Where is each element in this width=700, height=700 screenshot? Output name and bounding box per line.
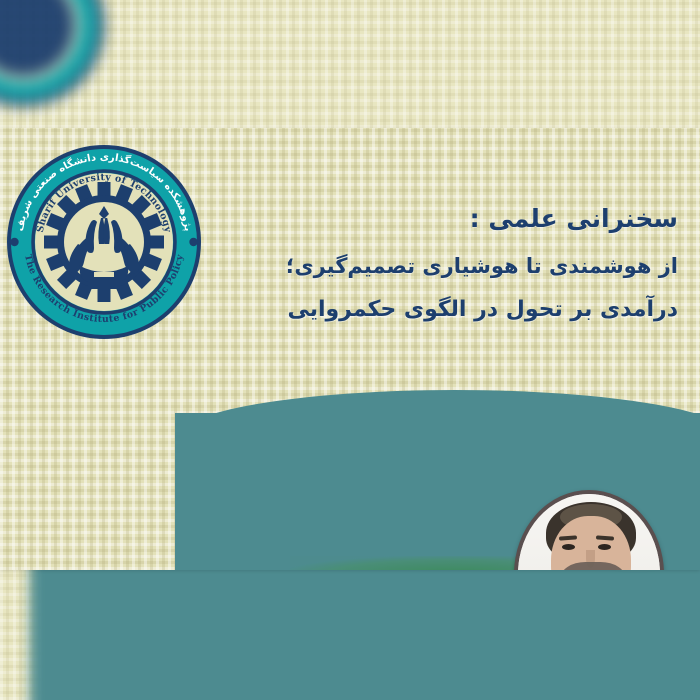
background-blurred-logo-icon xyxy=(0,0,108,110)
sharif-university-logo: پژوهشکده سیاست‌گذاری دانشگاه صنعتی شریف … xyxy=(4,142,204,342)
foreground-poster-layer: سخنرانی علمی : از هوشمندی تا هوشیاری تصم… xyxy=(0,128,700,570)
poster-canvas: دکتر مهدی فاتح‌راد سخنرانی علمی : از هوش… xyxy=(0,0,700,700)
speaker-portrait xyxy=(514,490,664,570)
speaker-name: دکتر مهدی فاتح‌راد xyxy=(0,568,530,570)
